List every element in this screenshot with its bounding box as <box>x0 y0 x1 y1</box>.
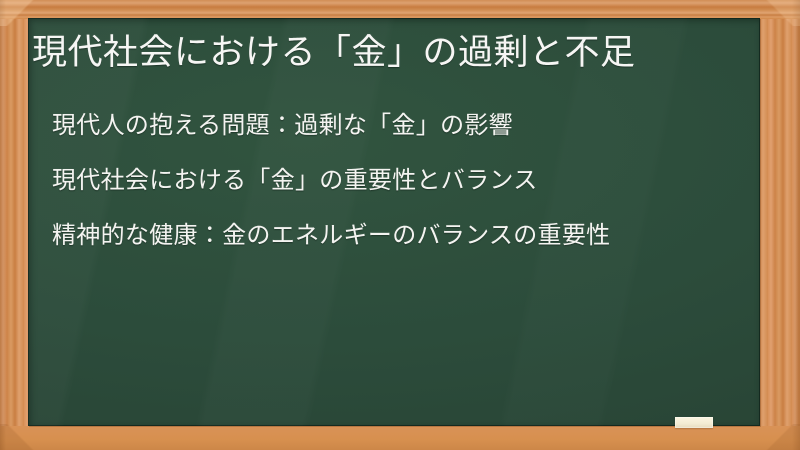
bullet-list: 現代人の抱える問題：過剰な「金」の影響 現代社会における「金」の重要性とバランス… <box>52 106 752 254</box>
frame-left-shadow <box>0 0 6 450</box>
frame-right-shadow <box>792 0 800 450</box>
wooden-frame-ledge <box>0 426 800 450</box>
chalkboard-slide: 現代社会における「金」の過剰と不足 現代人の抱える問題：過剰な「金」の影響 現代… <box>0 0 800 450</box>
page-title: 現代社会における「金」の過剰と不足 <box>32 30 754 76</box>
chalkboard-content: 現代社会における「金」の過剰と不足 現代人の抱える問題：過剰な「金」の影響 現代… <box>28 18 760 426</box>
list-item: 現代社会における「金」の重要性とバランス <box>52 161 752 199</box>
wooden-frame-top <box>0 0 800 19</box>
chalkboard-surface: 現代社会における「金」の過剰と不足 現代人の抱える問題：過剰な「金」の影響 現代… <box>28 18 760 426</box>
list-item: 精神的な健康：金のエネルギーのバランスの重要性 <box>52 216 752 254</box>
list-item: 現代人の抱える問題：過剰な「金」の影響 <box>52 106 752 144</box>
